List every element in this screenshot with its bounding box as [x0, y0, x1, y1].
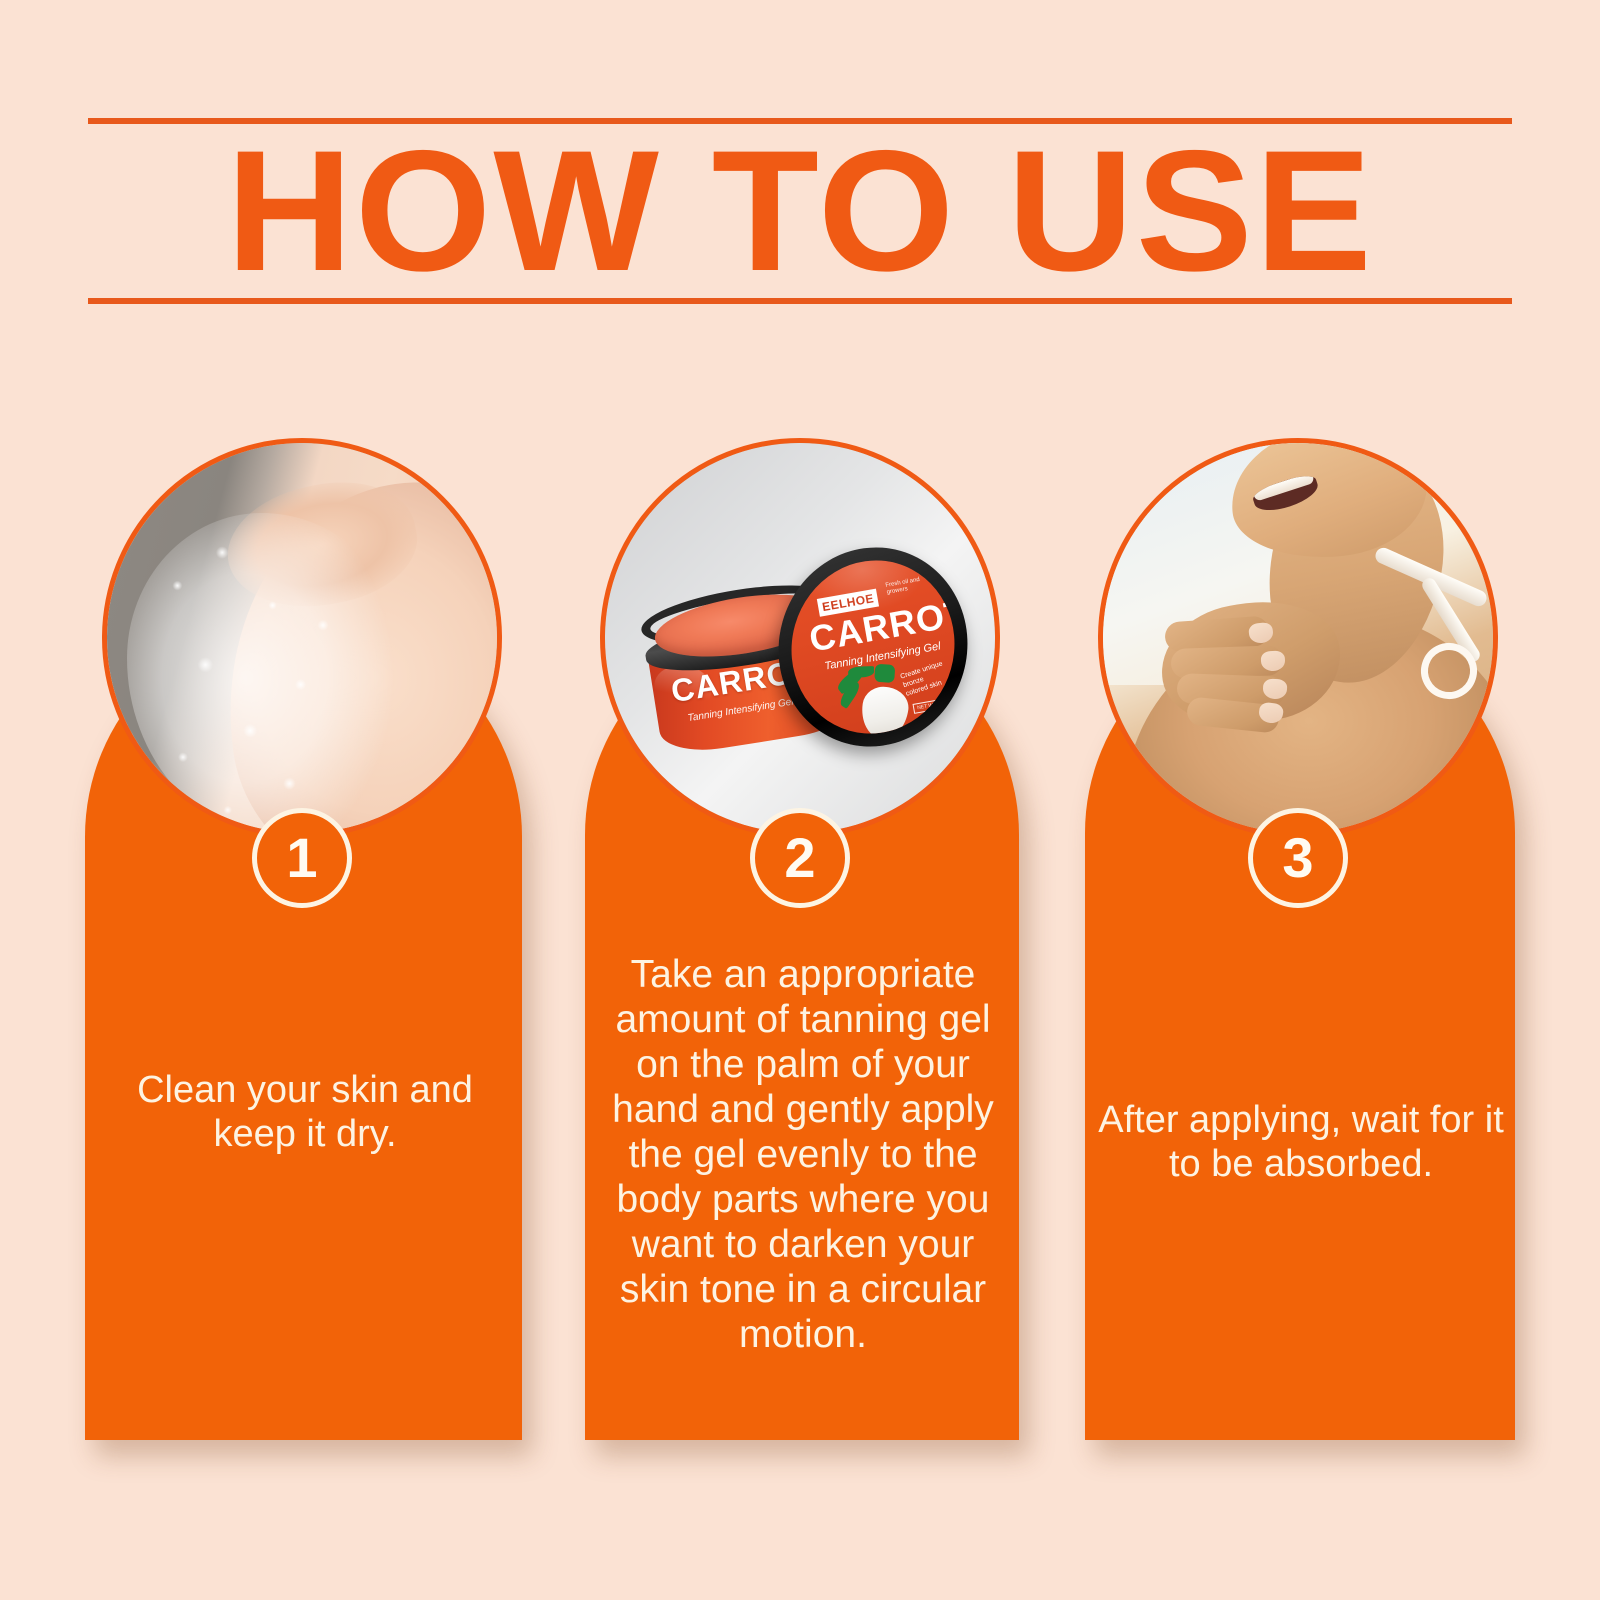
carrot-leaf: [848, 666, 874, 678]
step-2-text: Take an appropriate amount of tanning ge…: [596, 952, 1010, 1357]
infographic-page: HOW TO USE 1 Clean your skin and keep it…: [0, 0, 1600, 1600]
step-3-text: After applying, wait for it to be absorb…: [1096, 1098, 1506, 1186]
step-3-number-badge: 3: [1248, 808, 1348, 908]
step-2-photo: EELHOE Fresh oil and growers CARROT Tann…: [600, 438, 1000, 838]
step-1-text: Clean your skin and keep it dry.: [110, 1068, 500, 1156]
step-2-photo-inner: EELHOE Fresh oil and growers CARROT Tann…: [605, 443, 995, 833]
step-1-photo-inner: [107, 443, 497, 833]
lid-label: EELHOE Fresh oil and growers CARROT Tann…: [771, 541, 975, 753]
step-2-number-badge: 2: [750, 808, 850, 908]
carrot-root: [858, 684, 911, 742]
steps-container: 1 Clean your skin and keep it dry. EELHO…: [0, 0, 1600, 1600]
earring-icon: [1445, 493, 1456, 504]
step-3-photo: [1098, 438, 1498, 838]
product-jar: EELHOE Fresh oil and growers CARROT Tann…: [639, 539, 969, 769]
step-3-photo-inner: [1103, 443, 1493, 833]
step-1-photo: [102, 438, 502, 838]
step-1-number-badge: 1: [252, 808, 352, 908]
carrot-leaf: [874, 664, 895, 683]
